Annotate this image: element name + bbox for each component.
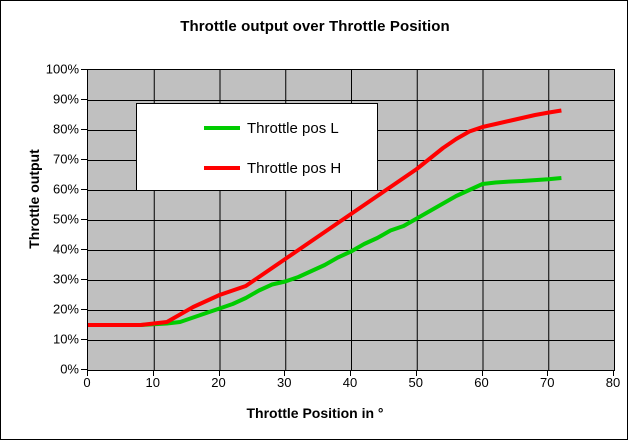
x-tick-label: 30 (277, 375, 291, 390)
x-axis-title: Throttle Position in ° (1, 405, 628, 421)
x-tick-label: 60 (474, 375, 488, 390)
legend-item-0[interactable]: Throttle pos L (137, 116, 379, 140)
legend: Throttle pos L Throttle pos H (136, 103, 378, 191)
x-tick-label: 40 (343, 375, 357, 390)
y-tick-label: 10% (19, 332, 79, 347)
legend-label-throttle-pos-l: Throttle pos L (247, 120, 339, 137)
y-tick-label: 20% (19, 302, 79, 317)
x-tick-label: 0 (83, 375, 90, 390)
chart-container: Throttle output over Throttle Position T… (0, 0, 628, 440)
x-tick-label: 80 (606, 375, 620, 390)
y-tick-label: 90% (19, 92, 79, 107)
legend-swatch-throttle-pos-h (204, 166, 240, 170)
y-tick-label: 0% (19, 362, 79, 377)
x-tick-label: 50 (409, 375, 423, 390)
y-tick-label: 100% (19, 62, 79, 77)
legend-item-1[interactable]: Throttle pos H (137, 156, 379, 180)
x-tick-label: 70 (540, 375, 554, 390)
x-tick-label: 10 (146, 375, 160, 390)
series-line-throttle-pos-l (88, 178, 561, 325)
chart-title: Throttle output over Throttle Position (1, 18, 628, 35)
x-tick-label: 20 (211, 375, 225, 390)
legend-label-throttle-pos-h: Throttle pos H (247, 160, 341, 177)
y-axis-title: Throttle output (26, 119, 42, 279)
legend-swatch-throttle-pos-l (204, 126, 240, 130)
